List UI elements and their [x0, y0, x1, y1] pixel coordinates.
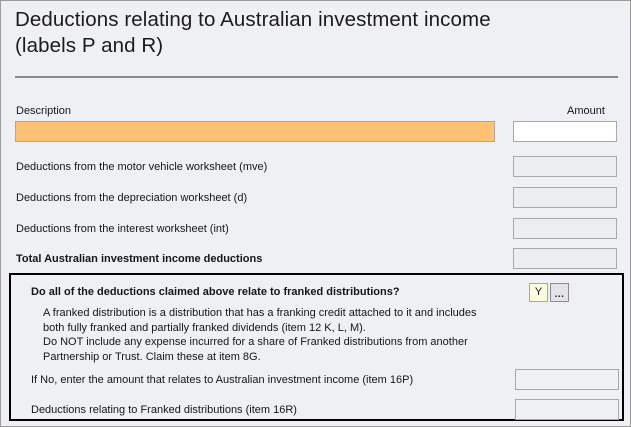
description-input[interactable] [15, 121, 495, 142]
title-divider [15, 76, 618, 78]
panel-row-amount-16p[interactable] [515, 369, 619, 390]
page-title-line-2: (labels P and R) [15, 33, 615, 59]
franked-help-text: A franked distribution is a distribution… [43, 306, 477, 364]
franked-answer-group: Y ... [529, 283, 569, 302]
franked-help-line-3: Do NOT include any expense incurred for … [43, 335, 477, 350]
franked-help-line-2: both fully franked and partially franked… [43, 321, 477, 336]
deductions-window: Deductions relating to Australian invest… [0, 0, 631, 427]
franked-question-label: Do all of the deductions claimed above r… [31, 286, 400, 298]
franked-help-line-1: A franked distribution is a distribution… [43, 306, 477, 321]
row-amount-motor-vehicle [513, 156, 617, 177]
row-amount-total [513, 248, 617, 269]
column-header-amount: Amount [567, 105, 605, 117]
franked-help-line-4: Partnership or Trust. Claim these at ite… [43, 350, 477, 365]
ellipsis-icon: ... [555, 292, 565, 298]
row-label-depreciation: Deductions from the depreciation workshe… [16, 192, 247, 204]
description-amount-input[interactable] [513, 121, 617, 142]
page-title: Deductions relating to Australian invest… [15, 7, 615, 59]
panel-row-label-16p: If No, enter the amount that relates to … [31, 374, 413, 386]
row-label-motor-vehicle: Deductions from the motor vehicle worksh… [16, 161, 267, 173]
franked-answer-input[interactable]: Y [529, 283, 548, 302]
panel-row-label-16r: Deductions relating to Franked distribut… [31, 404, 297, 416]
row-label-total: Total Australian investment income deduc… [16, 253, 262, 265]
franked-distributions-panel: Do all of the deductions claimed above r… [9, 273, 624, 421]
row-label-interest: Deductions from the interest worksheet (… [16, 223, 229, 235]
column-header-description: Description [16, 105, 71, 117]
row-amount-interest [513, 218, 617, 239]
panel-row-amount-16r[interactable] [515, 399, 619, 420]
row-amount-depreciation [513, 187, 617, 208]
page-title-line-1: Deductions relating to Australian invest… [15, 7, 615, 33]
franked-answer-lookup-button[interactable]: ... [550, 283, 569, 302]
